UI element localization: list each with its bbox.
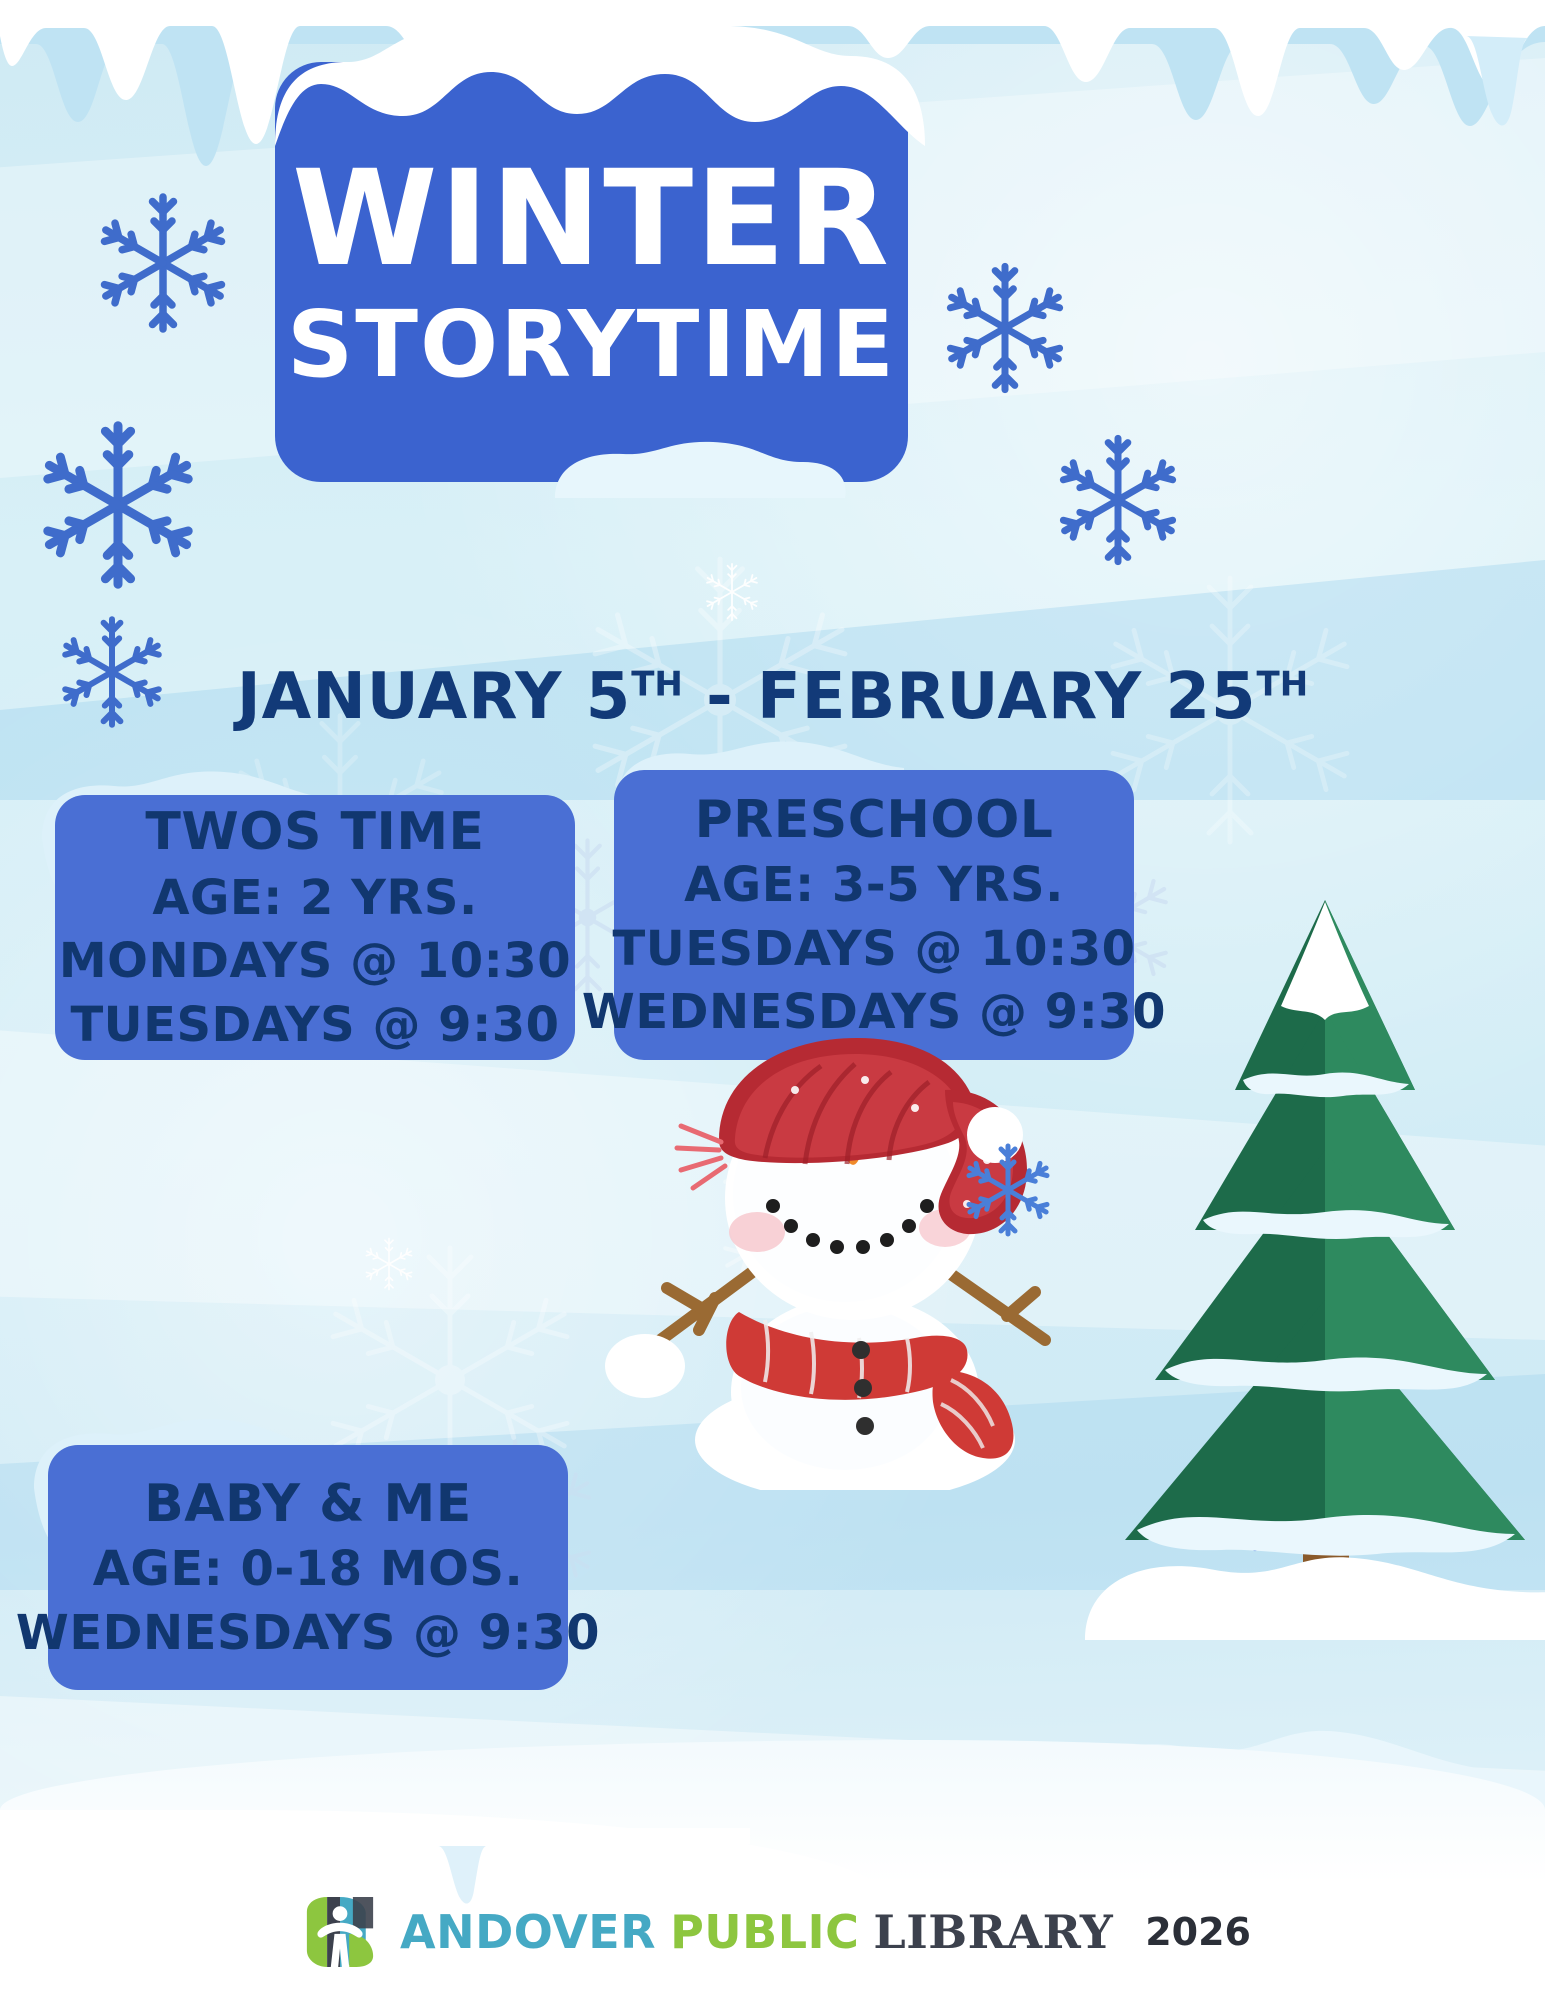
program-card-preschool: PRESCHOOL AGE: 3-5 YRS. TUESDAYS @ 10:30… [614,770,1134,1060]
date-day-end: 25 [1165,660,1256,734]
date-day-start: 5 [586,660,632,734]
snow-blob [545,440,855,500]
program-card-twos-time: TWOS TIME AGE: 2 YRS. MONDAYS @ 10:30 TU… [55,795,575,1060]
program-name: TWOS TIME [145,798,484,867]
program-name: PRESCHOOL [695,786,1054,855]
program-session-1: TUESDAYS @ 10:30 [613,918,1136,981]
date-ordinal-start: TH [631,665,683,705]
program-session-2: TUESDAYS @ 9:30 [70,994,559,1057]
snowball [600,1320,690,1400]
footer: ANDOVER PUBLIC LIBRARY 2026 [0,1886,1545,1978]
logo-word-public: PUBLIC [670,1905,859,1959]
title-line-storytime: STORYTIME [287,299,896,391]
program-name: BABY & ME [144,1470,472,1539]
date-month-start: JANUARY [237,660,563,734]
snowman-illustration [615,1020,1085,1490]
program-age: AGE: 3-5 YRS. [684,854,1064,917]
andover-public-library-logo-icon [294,1886,386,1978]
date-month-end: FEBRUARY [757,660,1142,734]
program-age: AGE: 2 YRS. [152,867,477,930]
program-session-1: MONDAYS @ 10:30 [59,930,571,993]
program-card-baby-and-me: BABY & ME AGE: 0-18 MOS. WEDNESDAYS @ 9:… [48,1445,568,1690]
title-line-winter: WINTER [292,153,891,285]
date-range: JANUARY 5TH - FEBRUARY 25TH [0,660,1545,734]
poster-title: WINTER STORYTIME [275,62,908,482]
library-wordmark: ANDOVER PUBLIC LIBRARY [400,1905,1113,1959]
date-separator: - [706,660,734,734]
winter-storytime-poster: WINTER STORYTIME JANUARY 5TH - FEBRUARY … [0,0,1545,2000]
program-age: AGE: 0-18 MOS. [93,1538,523,1601]
poster-year: 2026 [1145,1910,1251,1954]
logo-word-library: LIBRARY [873,1905,1113,1959]
logo-word-andover: ANDOVER [400,1905,656,1959]
snowy-pine-tree-illustration [1085,880,1545,1640]
snowball [960,1100,1030,1170]
date-ordinal-end: TH [1257,665,1309,705]
program-session-1: WEDNESDAYS @ 9:30 [16,1602,600,1665]
